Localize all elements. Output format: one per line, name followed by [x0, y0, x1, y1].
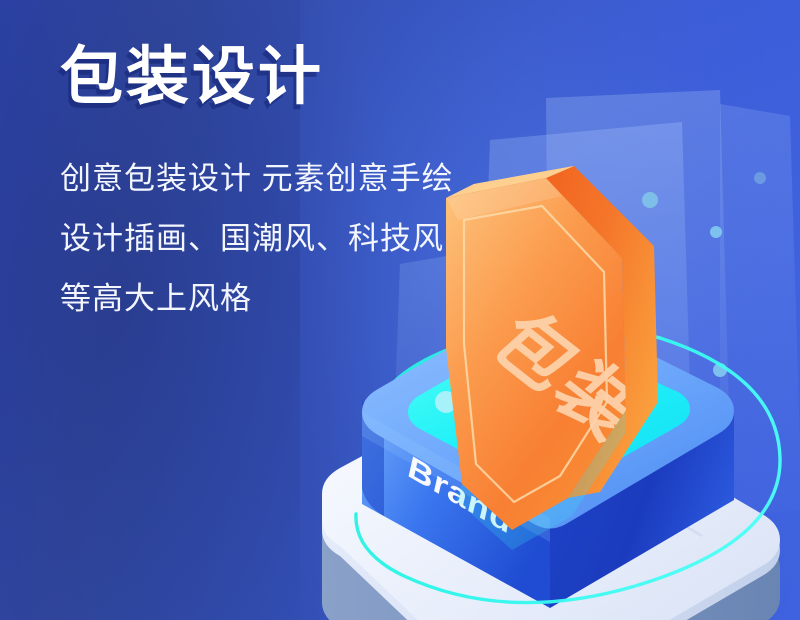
banner-root: 包装设计 创意包装设计 元素创意手绘 设计插画、国潮风、科技风 等高大上风格 — [0, 0, 800, 620]
bokeh-dot — [642, 192, 658, 208]
bokeh-dot — [754, 172, 766, 184]
bokeh-dot — [710, 226, 722, 238]
illustration-stage: Brand 包装 — [250, 80, 800, 620]
